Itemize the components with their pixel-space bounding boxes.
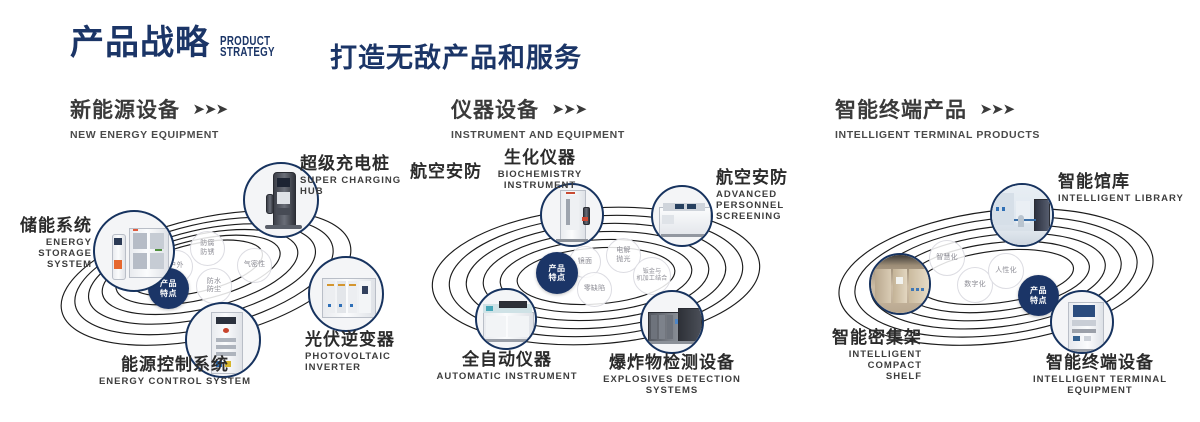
node-label-en: AUTOMATIC INSTRUMENT bbox=[432, 371, 582, 382]
photo-intelligent-library bbox=[992, 185, 1052, 245]
feature-chip: 防水 防尘 bbox=[196, 268, 232, 304]
node-explosives-detection-systems[interactable] bbox=[640, 290, 704, 354]
photo-advanced-personnel-screening bbox=[653, 187, 711, 245]
section-title-en: INTELLIGENT TERMINAL PRODUCTS bbox=[835, 129, 1040, 141]
node-label-explosives-detection-systems: 爆炸物检测设备 EXPLOSIVES DETECTION SYSTEMS bbox=[582, 353, 762, 396]
page-header: 产品战略 PRODUCT STRATEGY bbox=[70, 26, 290, 60]
node-label-cn: 智能馆库 bbox=[1058, 172, 1184, 191]
node-label-cn: 生化仪器 bbox=[470, 148, 610, 167]
node-energy-storage-system[interactable] bbox=[93, 210, 175, 292]
cluster-intelligent-terminal: 智慧化 数字化 人性化 产品 特点 智能馆库 INTELLIGENT LIBRA… bbox=[800, 150, 1200, 400]
product-strategy-infographic: 产品战略 PRODUCT STRATEGY 打造无敌产品和服务 新能源设备 ➤➤… bbox=[0, 0, 1200, 422]
node-label-cn: 智能终端设备 bbox=[1005, 353, 1195, 372]
node-intelligent-compact-shelf[interactable] bbox=[869, 253, 931, 315]
feature-chip-label: 智慧化 bbox=[936, 254, 958, 263]
node-label-energy-storage-system: 储能系统 ENERGY STORAGE SYSTEM bbox=[0, 216, 92, 270]
node-label-en: ENERGY STORAGE SYSTEM bbox=[0, 237, 92, 270]
chevron-right-icon: ➤➤➤ bbox=[551, 100, 586, 118]
core-chip-product-features: 产品 特点 bbox=[536, 252, 578, 294]
section-heading-intelligent-terminal: 智能终端产品 ➤➤➤ INTELLIGENT TERMINAL PRODUCTS bbox=[835, 94, 1040, 141]
node-intelligent-library[interactable] bbox=[990, 183, 1054, 247]
node-automatic-instrument[interactable] bbox=[475, 288, 537, 350]
feature-chip-label: 人性化 bbox=[995, 267, 1017, 276]
node-label-en: INTELLIGENT LIBRARY bbox=[1058, 193, 1184, 204]
node-label-intelligent-terminal-equipment: 智能终端设备 INTELLIGENT TERMINAL EQUIPMENT bbox=[1005, 353, 1195, 396]
page-subtitle: 打造无敌产品和服务 bbox=[330, 36, 582, 75]
node-label-en: EXPLOSIVES DETECTION SYSTEMS bbox=[582, 374, 762, 396]
section-title-en: INSTRUMENT AND EQUIPMENT bbox=[451, 129, 625, 141]
feature-chip-label: 气密性 bbox=[244, 261, 266, 270]
photo-photovoltaic-inverter bbox=[310, 258, 382, 330]
node-biochemistry-instrument[interactable] bbox=[540, 183, 604, 247]
section-heading-new-energy: 新能源设备 ➤➤➤ NEW ENERGY EQUIPMENT bbox=[70, 94, 227, 141]
node-label-intelligent-library: 智能馆库 INTELLIGENT LIBRARY bbox=[1058, 172, 1184, 204]
node-label-energy-control-system: 能源控制系统 ENERGY CONTROL SYSTEM bbox=[80, 355, 270, 387]
node-label-en: BIOCHEMISTRY INSTRUMENT bbox=[470, 169, 610, 191]
chevron-right-icon: ➤➤➤ bbox=[192, 100, 227, 118]
feature-chip: 防腐 防锈 bbox=[190, 231, 225, 266]
node-label-cn: 智能密集架 bbox=[800, 328, 922, 347]
photo-energy-storage bbox=[95, 212, 173, 290]
cluster-new-energy: 防腐 防锈 户外 气密性 防水 防尘 产品 特点 储能系统 ENERGY STO… bbox=[0, 150, 420, 400]
feature-chip-label: 钣金与 机加工结合 bbox=[636, 269, 667, 284]
feature-chip-label: 数字化 bbox=[964, 281, 986, 290]
feature-chip-label: 防腐 防锈 bbox=[200, 240, 214, 257]
core-chip-label: 产品 特点 bbox=[549, 264, 566, 283]
node-label-en: INTELLIGENT COMPACT SHELF bbox=[800, 349, 922, 382]
node-photovoltaic-inverter[interactable] bbox=[308, 256, 384, 332]
photo-biochemistry-instrument bbox=[542, 185, 602, 245]
cluster-instrument: 镜面 电解 抛光 零缺陷 钣金与 机加工结合 产品 特点 生化仪器 BIOCHE… bbox=[400, 150, 820, 400]
feature-chip: 气密性 bbox=[237, 248, 272, 283]
feature-chip: 人性化 bbox=[988, 253, 1024, 289]
node-label-cn: 能源控制系统 bbox=[80, 355, 270, 374]
feature-chip-label: 电解 抛光 bbox=[616, 247, 630, 264]
photo-intelligent-terminal-equipment bbox=[1052, 292, 1112, 352]
feature-chip-label: 零缺陷 bbox=[584, 285, 606, 294]
section-title-en: NEW ENERGY EQUIPMENT bbox=[70, 129, 227, 141]
node-label-cn: 全自动仪器 bbox=[432, 350, 582, 369]
node-label-intelligent-compact-shelf: 智能密集架 INTELLIGENT COMPACT SHELF bbox=[800, 328, 922, 382]
page-title-en: PRODUCT STRATEGY bbox=[220, 36, 275, 58]
node-label-aviation-security: 航空安防 bbox=[410, 162, 482, 181]
photo-automatic-instrument bbox=[477, 290, 535, 348]
photo-intelligent-compact-shelf bbox=[871, 255, 929, 313]
chevron-right-icon: ➤➤➤ bbox=[979, 100, 1014, 118]
node-label-automatic-instrument: 全自动仪器 AUTOMATIC INSTRUMENT bbox=[432, 350, 582, 382]
node-label-en: ENERGY CONTROL SYSTEM bbox=[80, 376, 270, 387]
core-chip-label: 产品 特点 bbox=[1030, 286, 1047, 305]
node-label-cn: 爆炸物检测设备 bbox=[582, 353, 762, 372]
section-title-cn: 新能源设备 bbox=[70, 94, 180, 124]
feature-chip: 钣金与 机加工结合 bbox=[633, 257, 671, 295]
feature-chip: 零缺陷 bbox=[577, 272, 612, 307]
node-label-cn: 航空安防 bbox=[410, 162, 482, 181]
node-label-biochemistry-instrument: 生化仪器 BIOCHEMISTRY INSTRUMENT bbox=[470, 148, 610, 191]
photo-explosives-detection bbox=[642, 292, 702, 352]
feature-chip-label: 镜面 bbox=[578, 258, 592, 267]
section-heading-instrument: 仪器设备 ➤➤➤ INSTRUMENT AND EQUIPMENT bbox=[451, 94, 625, 141]
node-advanced-personnel-screening[interactable] bbox=[651, 185, 713, 247]
page-title: 产品战略 bbox=[70, 26, 210, 60]
section-title-cn: 仪器设备 bbox=[451, 94, 539, 124]
feature-chip-label: 防水 防尘 bbox=[207, 278, 221, 295]
node-label-cn: 储能系统 bbox=[0, 216, 92, 235]
node-intelligent-terminal-equipment[interactable] bbox=[1050, 290, 1114, 354]
node-label-en: INTELLIGENT TERMINAL EQUIPMENT bbox=[1005, 374, 1195, 396]
section-title-cn: 智能终端产品 bbox=[835, 94, 967, 124]
feature-chip: 智慧化 bbox=[929, 240, 965, 276]
